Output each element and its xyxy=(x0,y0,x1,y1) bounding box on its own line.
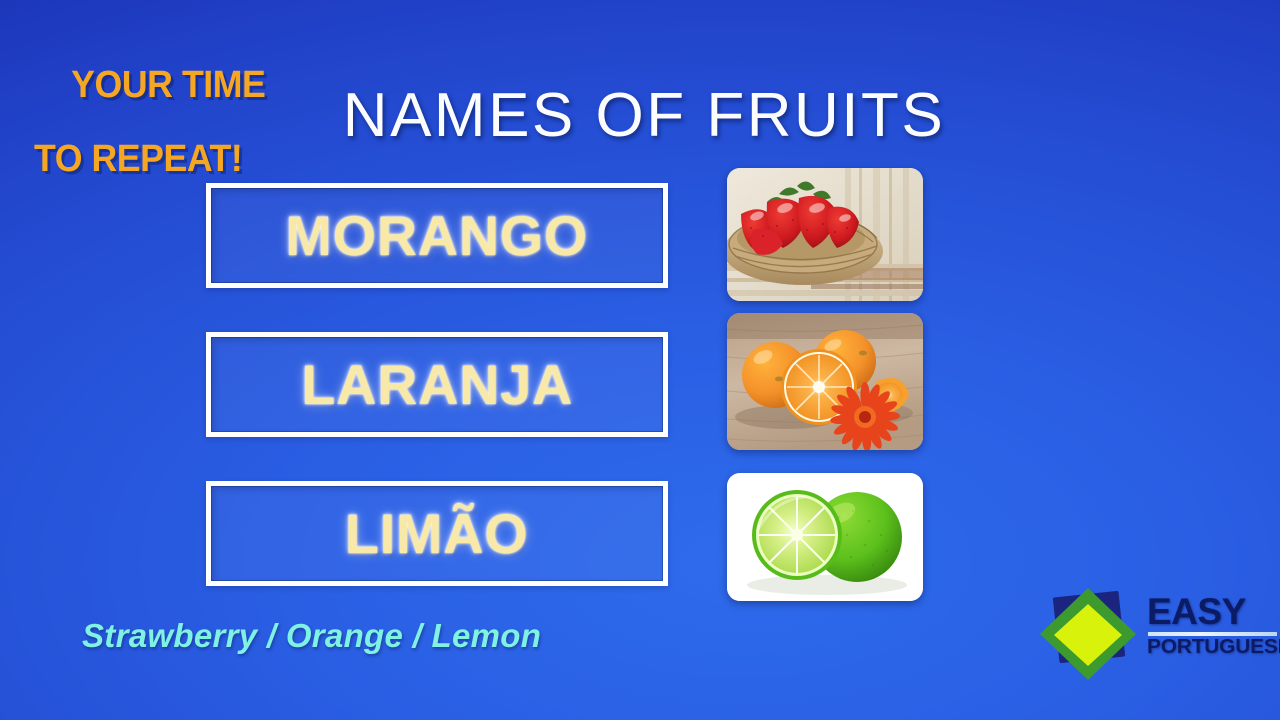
slide-canvas: YOUR TIME TO REPEAT! NAMES OF FRUITS MOR… xyxy=(0,0,1280,720)
logo-wordmark: EASY PORTUGUESE xyxy=(1147,593,1279,658)
word-box-morango: MORANGO xyxy=(206,183,668,288)
page-title: NAMES OF FRUITS xyxy=(4,80,1280,151)
oranges-with-flower-photo xyxy=(727,313,923,450)
logo-portuguese-text: PORTUGUESE xyxy=(1147,637,1280,658)
logo-diamond-icon xyxy=(1036,586,1141,684)
logo-easy-text: EASY xyxy=(1147,593,1279,630)
word-label-laranja: LARANJA xyxy=(301,357,573,413)
word-label-morango: MORANGO xyxy=(286,208,589,264)
limes-halved-photo xyxy=(727,473,923,601)
strawberries-in-basket-photo xyxy=(727,168,923,301)
word-box-limao: LIMÃO xyxy=(206,481,668,586)
easy-portuguese-logo: EASY PORTUGUESE xyxy=(1036,586,1276,686)
word-box-laranja: LARANJA xyxy=(206,332,668,437)
word-label-limao: LIMÃO xyxy=(345,506,529,562)
translation-line: Strawberry / Orange / Lemon xyxy=(82,617,541,655)
